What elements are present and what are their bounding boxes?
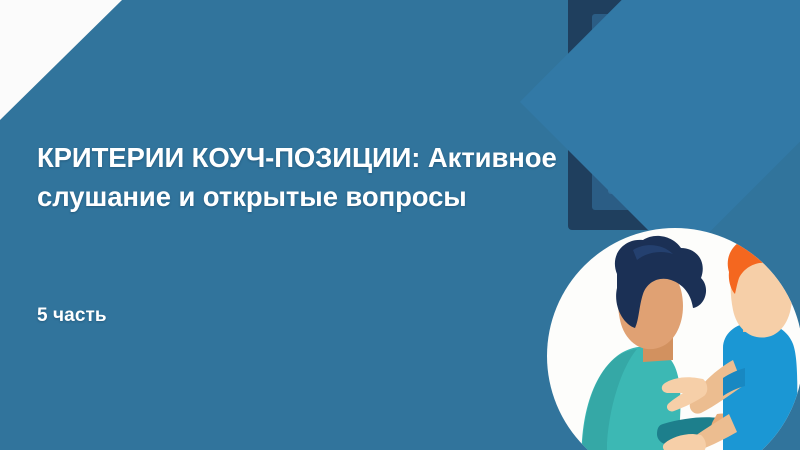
decor-frame-inner xyxy=(608,44,758,194)
decor-frame-core xyxy=(618,78,726,186)
slide-part-label: 5 часть xyxy=(37,305,107,327)
two-people-conversation-illustration xyxy=(547,228,800,450)
page-title: КРИТЕРИИ КОУЧ-ПОЗИЦИИ: Активное слушание… xyxy=(37,138,617,216)
title-block: КРИТЕРИИ КОУЧ-ПОЗИЦИИ: Активное слушание… xyxy=(37,138,617,216)
decor-frame-mid xyxy=(592,14,788,210)
decor-corner-triangle xyxy=(0,0,122,120)
presentation-slide: КРИТЕРИИ КОУЧ-ПОЗИЦИИ: Активное слушание… xyxy=(0,0,800,450)
